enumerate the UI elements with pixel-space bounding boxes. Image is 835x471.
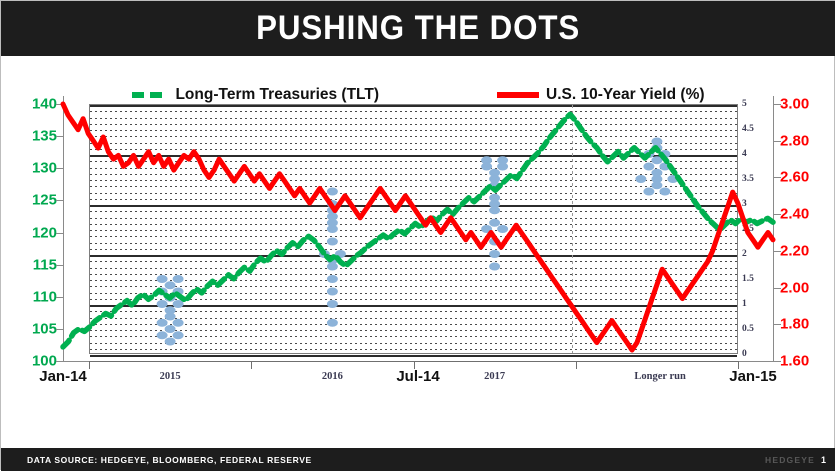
hedgeye-brand: HEDGEYE [765, 455, 815, 465]
bottom-axis-label: Jan-15 [729, 368, 777, 385]
fed-dot [327, 263, 338, 271]
fed-dot [173, 275, 184, 283]
fed-dot [165, 325, 176, 333]
footer-bar: DATA SOURCE: HEDGEYE, BLOOMBERG, FEDERAL… [1, 448, 835, 471]
fed-dot [651, 181, 662, 189]
fed-dot [635, 175, 646, 183]
fed-dot [327, 319, 338, 327]
fed-dot [481, 163, 492, 171]
fed-dots-group [157, 138, 679, 346]
fed-dot [643, 188, 654, 196]
fed-dot [643, 163, 654, 171]
fed-dot [327, 288, 338, 296]
fed-dot [489, 219, 500, 227]
fed-dot [173, 331, 184, 339]
bottom-axis-label: Jan-14 [39, 368, 87, 385]
fed-dot [327, 238, 338, 246]
chart-page: PUSHING THE DOTS Long-Term Treasuries (T… [0, 0, 835, 470]
fed-dot [157, 275, 168, 283]
fed-dot [157, 331, 168, 339]
fed-dot [173, 319, 184, 327]
fed-dot [165, 281, 176, 289]
fed-dot [489, 250, 500, 258]
footer-brand-group: HEDGEYE 1 [765, 455, 826, 465]
fed-dot [489, 206, 500, 214]
bottom-axis-label: Jul-14 [396, 368, 439, 385]
fed-dot [157, 300, 168, 308]
fed-dot [327, 188, 338, 196]
chart-area: 140135130125120115110105100 3.002.802.60… [1, 96, 835, 426]
title-bar: PUSHING THE DOTS [1, 1, 835, 56]
fed-dot [327, 275, 338, 283]
fed-dot [165, 338, 176, 346]
fed-dot [497, 163, 508, 171]
page-number: 1 [821, 455, 826, 465]
fed-dot [497, 225, 508, 233]
fed-dot [327, 300, 338, 308]
fed-dot [659, 188, 670, 196]
fed-dot [327, 225, 338, 233]
fed-dot [157, 319, 168, 327]
footer-source-text: DATA SOURCE: HEDGEYE, BLOOMBERG, FEDERAL… [27, 455, 312, 465]
page-title: PUSHING THE DOTS [256, 9, 580, 48]
fed-dot [489, 263, 500, 271]
fed-dot [165, 313, 176, 321]
